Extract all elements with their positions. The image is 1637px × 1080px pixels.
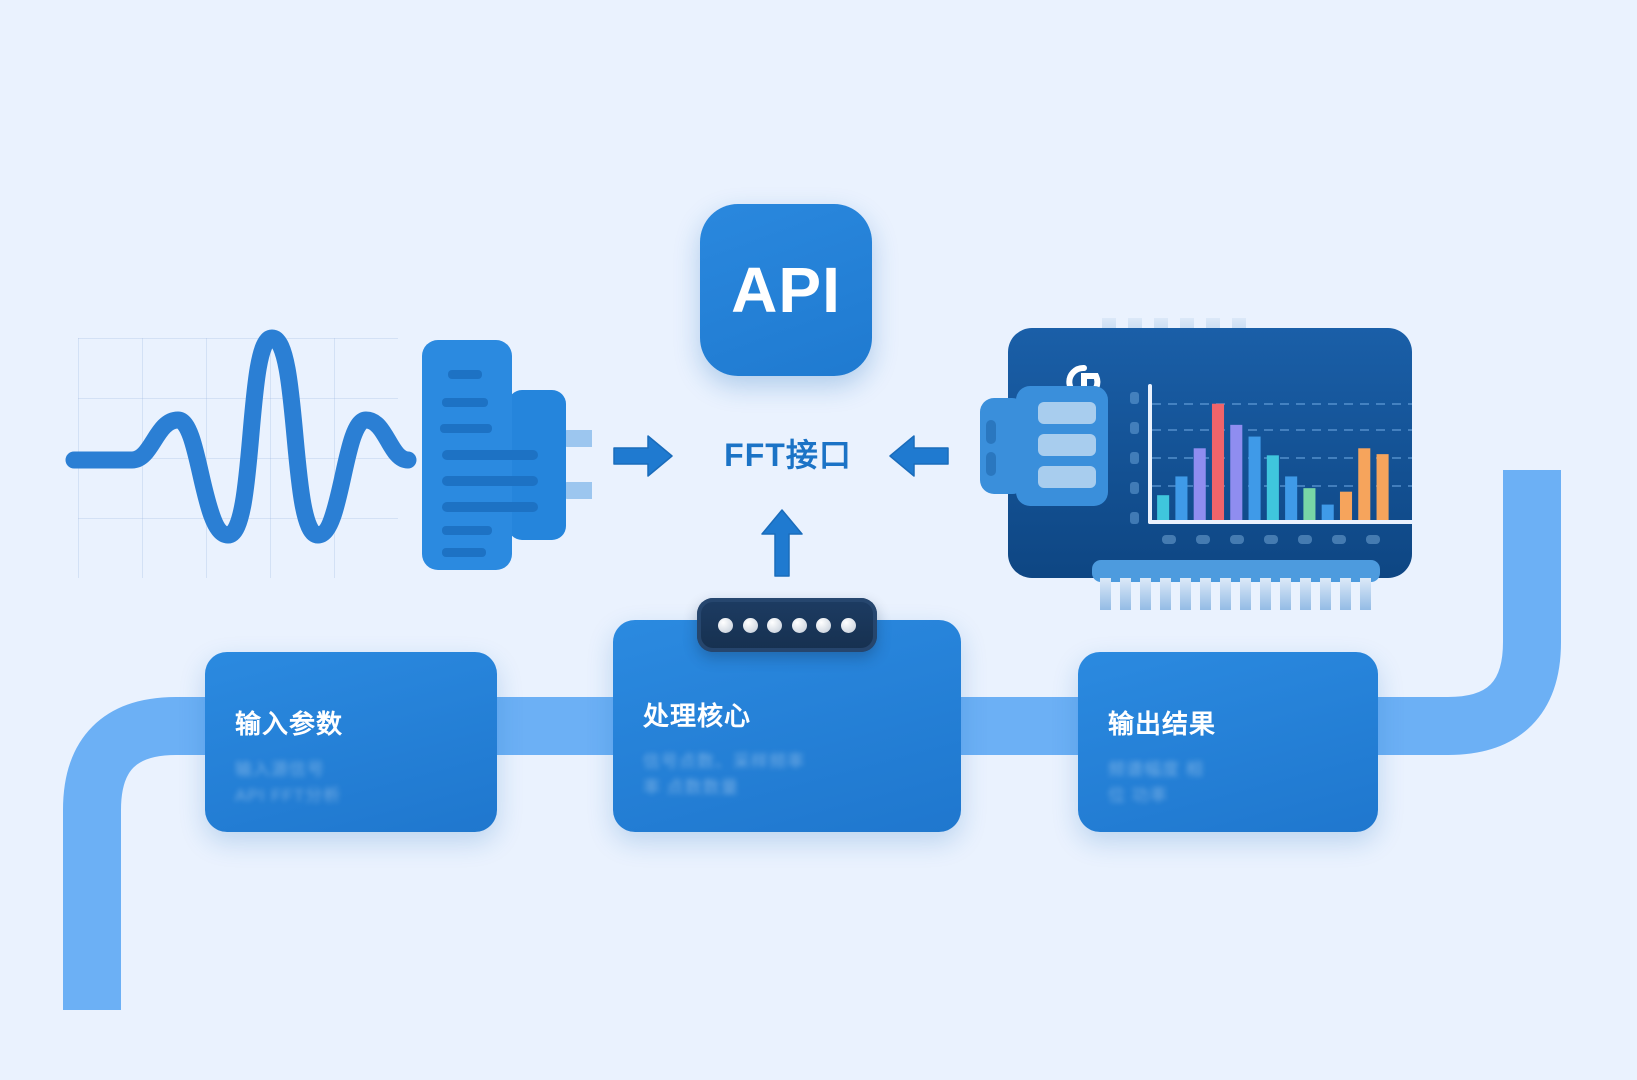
chart-bar xyxy=(1285,476,1297,521)
board-edge-connector-icon xyxy=(980,386,1108,506)
arrow-right-icon xyxy=(612,432,674,480)
card-input-parameters[interactable]: 输入参数 输入源信号 API FFT分析 xyxy=(205,652,497,832)
card-subtitle: 输入源信号 API FFT分析 xyxy=(235,757,467,808)
connector-pin-dot xyxy=(841,618,856,633)
illustration-canvas: API FFT接口 xyxy=(0,0,1637,1080)
chart-bar xyxy=(1358,448,1370,521)
card-title: 处理核心 xyxy=(643,696,931,733)
api-badge[interactable]: API xyxy=(700,204,872,376)
card-title: 输入参数 xyxy=(235,704,467,741)
chart-bar xyxy=(1194,448,1206,521)
board-bottom-pins xyxy=(1092,560,1380,610)
connector-pin-dot xyxy=(718,618,733,633)
connector-pin-dot xyxy=(816,618,831,633)
chart-bar xyxy=(1303,488,1315,521)
power-plug-icon xyxy=(412,330,592,580)
chart-bar xyxy=(1322,505,1334,521)
chart-bar xyxy=(1230,425,1242,521)
connector-pin-dot xyxy=(743,618,758,633)
circuit-board-chip-icon xyxy=(980,310,1430,615)
card-output-results[interactable]: 输出结果 频谱幅度 相 位 功率 xyxy=(1078,652,1378,832)
chart-bar xyxy=(1340,492,1352,521)
chart-bar xyxy=(1212,404,1224,521)
card-subtitle: 频谱幅度 相 位 功率 xyxy=(1108,757,1348,808)
core-connector-header xyxy=(697,598,877,652)
chart-bar xyxy=(1157,495,1169,521)
arrow-up-icon xyxy=(758,508,806,578)
chart-bar xyxy=(1267,455,1279,521)
arrow-left-icon xyxy=(888,432,950,480)
connector-pin-dot xyxy=(767,618,782,633)
api-badge-label: API xyxy=(731,258,841,322)
card-subtitle: 信号点数、采样频率 率 点数数量 xyxy=(643,749,931,800)
waveform-sinc-icon xyxy=(60,320,420,590)
chart-bar xyxy=(1249,437,1261,521)
chart-bar xyxy=(1175,476,1187,521)
card-title: 输出结果 xyxy=(1108,704,1348,741)
fft-interface-label: FFT接口 xyxy=(700,430,876,476)
connector-pin-dot xyxy=(792,618,807,633)
chart-bar xyxy=(1377,454,1389,521)
